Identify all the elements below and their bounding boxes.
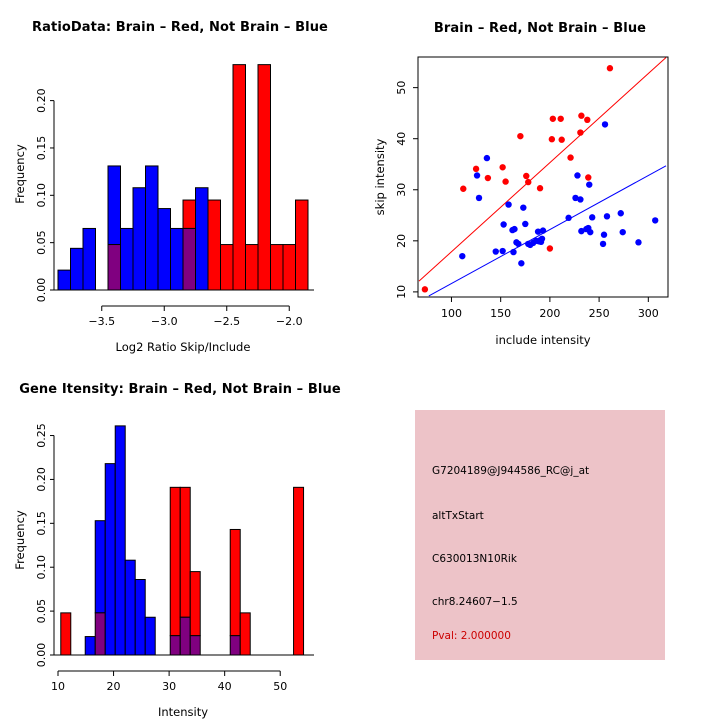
histogram-bar [125, 560, 135, 655]
histogram-bar [171, 228, 184, 290]
scatter-point [607, 65, 613, 71]
svg-text:200: 200 [539, 307, 560, 320]
svg-text:−3.0: −3.0 [151, 315, 178, 328]
scatter-point [587, 229, 593, 235]
scatter-point [493, 248, 499, 254]
scatter-point [459, 253, 465, 259]
histogram-bar [240, 613, 250, 655]
svg-text:150: 150 [490, 307, 511, 320]
scatter-point [577, 129, 583, 135]
svg-text:Frequency: Frequency [13, 144, 27, 204]
svg-text:0.10: 0.10 [35, 555, 48, 580]
probe-id-text: G7204189@J944586_RC@j_at [432, 465, 589, 477]
scatter-point [474, 172, 480, 178]
scatter-point [540, 227, 546, 233]
plot-frame [418, 57, 668, 297]
scatter-point [584, 117, 590, 123]
scatter-point [577, 196, 583, 202]
svg-text:0.20: 0.20 [35, 467, 48, 492]
svg-text:Log2 Ratio Skip/Include: Log2 Ratio Skip/Include [116, 340, 251, 354]
scatter-point [502, 178, 508, 184]
regression-line [419, 58, 666, 282]
histogram-bar-overlap [95, 613, 105, 655]
histogram-bar [180, 487, 190, 617]
scatter-point [525, 179, 531, 185]
scatter-point [510, 249, 516, 255]
panel-scatter: Brain – Red, Not Brain – Blue 1001502002… [360, 0, 720, 360]
scatter-point [578, 113, 584, 119]
scatter-point [559, 137, 565, 143]
svg-text:0.15: 0.15 [35, 136, 48, 161]
scatter-point [485, 175, 491, 181]
histogram-bar [58, 270, 71, 290]
svg-text:0.05: 0.05 [35, 230, 48, 255]
locus-text: chr8.24607−1.5 [432, 596, 518, 608]
regression-line [429, 166, 666, 296]
svg-text:0.00: 0.00 [35, 278, 48, 303]
scatter-point [547, 245, 553, 251]
scatter-point [604, 213, 610, 219]
scatter-point [518, 260, 524, 266]
scatter-point [600, 241, 606, 247]
histogram-bar-overlap [230, 636, 240, 655]
scatter-point [585, 174, 591, 180]
svg-text:include intensity: include intensity [495, 333, 590, 347]
svg-text:0.25: 0.25 [35, 423, 48, 448]
svg-text:30: 30 [162, 680, 176, 693]
histogram-bar [83, 228, 96, 290]
svg-text:50: 50 [273, 680, 287, 693]
histogram-bar-overlap [108, 245, 121, 290]
svg-text:0.10: 0.10 [35, 183, 48, 208]
scatter-point [500, 221, 506, 227]
svg-text:Intensity: Intensity [158, 705, 208, 719]
scatter-point [520, 204, 526, 210]
ratio-histogram-plot: 0.000.050.100.150.20−3.5−3.0−2.5−2.0Log2… [0, 0, 360, 360]
svg-text:−2.5: −2.5 [213, 315, 240, 328]
histogram-bar [158, 209, 171, 290]
gene-histogram-plot: 0.000.050.100.150.200.251020304050Intens… [0, 360, 360, 720]
histogram-bar [145, 617, 155, 655]
svg-text:300: 300 [638, 307, 659, 320]
scatter-point [652, 217, 658, 223]
info-box: G7204189@J944586_RC@j_at altTxStart C630… [415, 410, 665, 660]
scatter-point [473, 166, 479, 172]
histogram-bar [115, 426, 125, 655]
histogram-bar-overlap [183, 228, 196, 290]
figure-canvas: RatioData: Brain – Red, Not Brain – Blue… [0, 0, 720, 720]
histogram-bar [221, 245, 234, 290]
scatter-point [586, 181, 592, 187]
svg-text:Frequency: Frequency [13, 510, 27, 570]
gene-histogram-title: Gene Itensity: Brain – Red, Not Brain – … [0, 382, 360, 397]
pval-text: Pval: 2.000000 [432, 630, 511, 642]
scatter-point [499, 248, 505, 254]
scatter-point [476, 195, 482, 201]
histogram-bar [258, 65, 271, 290]
histogram-bar [183, 200, 196, 228]
svg-text:40: 40 [218, 680, 232, 693]
gene-symbol-text: C630013N10Rik [432, 553, 517, 565]
panel-info: G7204189@J944586_RC@j_at altTxStart C630… [360, 360, 720, 720]
histogram-bar [121, 228, 134, 290]
histogram-bar [146, 166, 159, 290]
scatter-point [565, 215, 571, 221]
histogram-bar [233, 65, 246, 290]
scatter-point [484, 155, 490, 161]
scatter-point [567, 154, 573, 160]
svg-text:50: 50 [395, 81, 408, 95]
scatter-point [620, 229, 626, 235]
histogram-bar [170, 487, 180, 635]
histogram-bar [105, 464, 115, 655]
svg-text:skip intensity: skip intensity [373, 138, 387, 215]
scatter-point [539, 236, 545, 242]
histogram-bar [208, 200, 221, 290]
histogram-bar [190, 572, 200, 636]
scatter-point [517, 133, 523, 139]
scatter-point [549, 136, 555, 142]
histogram-bar [296, 200, 309, 290]
scatter-point [537, 185, 543, 191]
ratio-histogram-title: RatioData: Brain – Red, Not Brain – Blue [0, 20, 360, 35]
scatter-point [515, 241, 521, 247]
svg-text:10: 10 [395, 285, 408, 299]
histogram-bar-overlap [180, 617, 190, 655]
svg-text:40: 40 [395, 132, 408, 146]
svg-text:10: 10 [51, 680, 65, 693]
scatter-point [505, 201, 511, 207]
event-type-text: altTxStart [432, 510, 484, 522]
scatter-point [602, 121, 608, 127]
scatter-point [558, 116, 564, 122]
svg-text:20: 20 [107, 680, 121, 693]
panel-ratio-histogram: RatioData: Brain – Red, Not Brain – Blue… [0, 0, 360, 360]
histogram-bar [230, 529, 240, 635]
scatter-point [522, 221, 528, 227]
scatter-point [523, 173, 529, 179]
histogram-bar [61, 613, 71, 655]
scatter-plot: 1001502002503001020304050include intensi… [360, 0, 720, 360]
histogram-bar [283, 245, 296, 290]
scatter-point [550, 116, 556, 122]
histogram-bar [95, 521, 105, 613]
svg-text:0.20: 0.20 [35, 88, 48, 113]
svg-text:0.15: 0.15 [35, 511, 48, 536]
scatter-point [422, 286, 428, 292]
histogram-bar [71, 248, 84, 290]
svg-text:250: 250 [589, 307, 610, 320]
panel-gene-histogram: Gene Itensity: Brain – Red, Not Brain – … [0, 360, 360, 720]
histogram-bar [294, 487, 304, 655]
svg-text:−2.0: −2.0 [276, 315, 303, 328]
scatter-point [511, 226, 517, 232]
histogram-bar [271, 245, 284, 290]
svg-text:0.05: 0.05 [35, 599, 48, 624]
scatter-point [574, 172, 580, 178]
histogram-bar [246, 245, 259, 290]
histogram-bar [133, 188, 146, 290]
scatter-point [589, 214, 595, 220]
scatter-title: Brain – Red, Not Brain – Blue [360, 21, 720, 36]
scatter-point [601, 232, 607, 238]
histogram-bar-overlap [190, 636, 200, 655]
scatter-point [460, 186, 466, 192]
histogram-bar-overlap [170, 636, 180, 655]
scatter-point [499, 164, 505, 170]
svg-text:−3.5: −3.5 [88, 315, 115, 328]
svg-text:30: 30 [395, 183, 408, 197]
histogram-bar [108, 166, 121, 245]
scatter-point [618, 210, 624, 216]
svg-text:0.00: 0.00 [35, 643, 48, 668]
svg-text:100: 100 [441, 307, 462, 320]
scatter-point [635, 239, 641, 245]
histogram-bar [196, 188, 209, 290]
svg-text:20: 20 [395, 234, 408, 248]
histogram-bar [85, 637, 95, 655]
histogram-bar [135, 580, 145, 655]
